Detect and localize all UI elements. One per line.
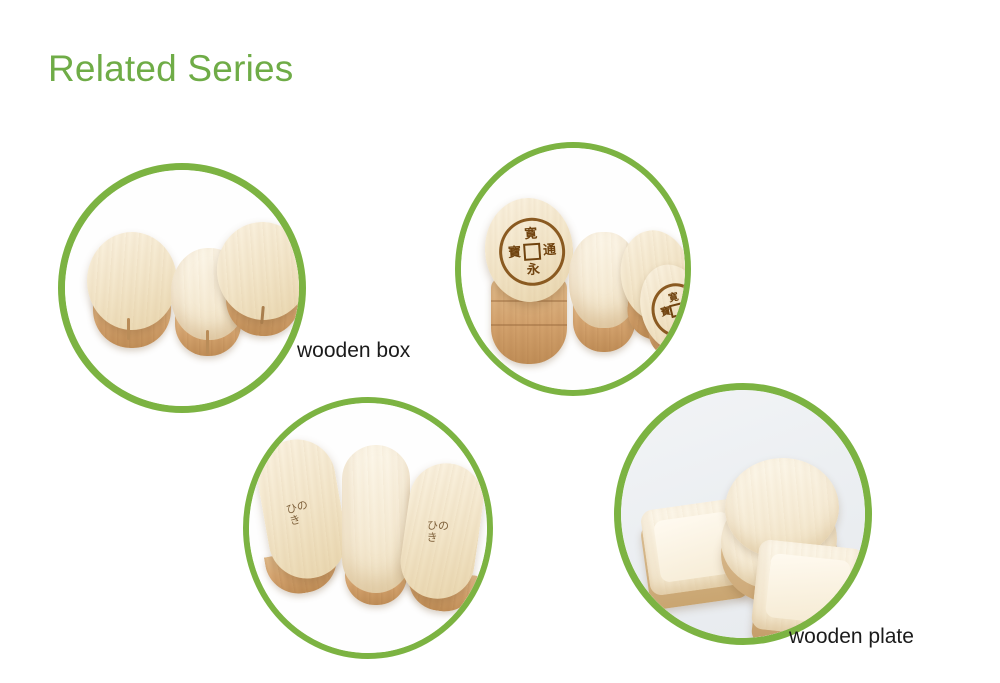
box-seam bbox=[206, 330, 209, 354]
stack-seam bbox=[491, 324, 567, 326]
product-photo-round-boxes bbox=[65, 170, 299, 406]
page-title: Related Series bbox=[48, 48, 294, 90]
bento-interior bbox=[342, 445, 410, 593]
box-seam bbox=[127, 318, 130, 340]
related-series-banner: Related Series bbox=[0, 0, 1000, 683]
product-photo-plates bbox=[621, 390, 865, 638]
brand-mark: ひの き bbox=[285, 499, 313, 527]
square-plate-well bbox=[765, 553, 851, 625]
kanji-bottom: 永 bbox=[526, 263, 540, 277]
product-photo-engraved-boxes: 寛 寶 通 永 寛 寶 通 永 bbox=[461, 148, 685, 390]
coin-square-hole bbox=[523, 243, 541, 261]
product-circle-wooden-box-oval[interactable]: ひの き ひの き bbox=[243, 397, 493, 659]
kanji-bottom: 永 bbox=[674, 317, 685, 329]
brand-mark: ひの き bbox=[426, 520, 449, 544]
coin-engraving: 寛 寶 通 永 bbox=[646, 278, 685, 342]
coin-engraving: 寛 寶 通 永 bbox=[497, 216, 568, 288]
product-circle-wooden-box-round[interactable] bbox=[58, 163, 306, 413]
box-lid bbox=[87, 232, 177, 330]
kanji-top: 寛 bbox=[524, 227, 538, 241]
kanji-left: 寶 bbox=[508, 246, 522, 260]
product-photo-oval-boxes: ひの き ひの き bbox=[249, 403, 487, 653]
product-circle-wooden-box-engraved[interactable]: 寛 寶 通 永 寛 寶 通 永 bbox=[455, 142, 691, 396]
caption-wooden-plate: wooden plate bbox=[789, 625, 914, 649]
caption-wooden-box: wooden box bbox=[297, 339, 410, 363]
kanji-right: 通 bbox=[543, 244, 557, 258]
product-circle-wooden-plate[interactable] bbox=[614, 383, 872, 645]
